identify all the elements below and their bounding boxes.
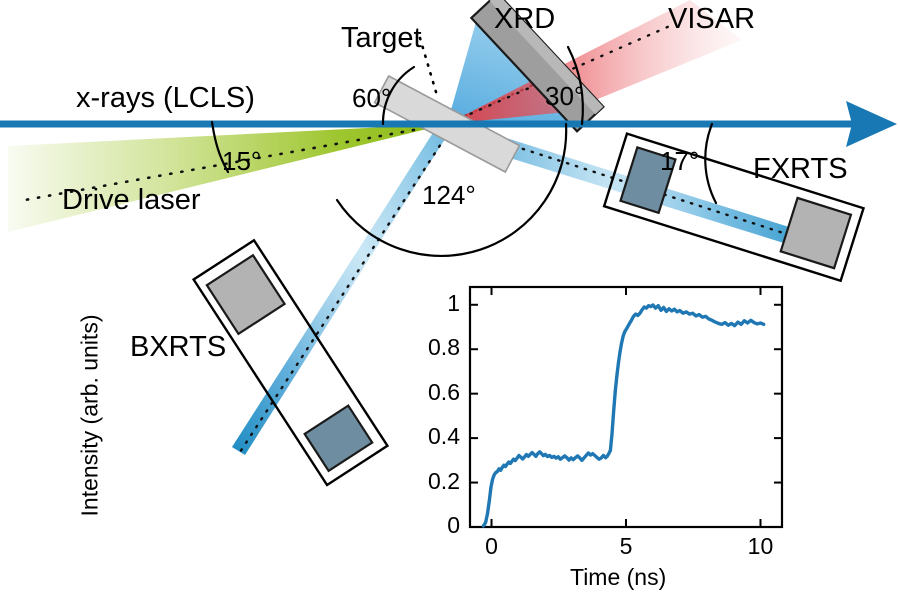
plot-y-tick-0.6: 0.6 — [406, 381, 460, 404]
fxrts-label: FXRTS — [753, 155, 848, 184]
plot-x-tick-5: 5 — [602, 535, 650, 558]
plot-y-tick-0: 0 — [406, 514, 460, 537]
plot-y-tick-1: 1 — [406, 292, 460, 315]
angle-label-60: 60° — [352, 85, 391, 111]
drive-laser-label: Drive laser — [62, 186, 201, 215]
xray-arrow-head — [846, 101, 897, 147]
visar-label: VISAR — [668, 5, 755, 34]
target-label: Target — [341, 24, 422, 53]
xray-beam-label: x-rays (LCLS) — [76, 84, 255, 113]
target-leader — [420, 38, 436, 92]
figure-canvas: x-rays (LCLS) Drive laser Target XRD VIS… — [0, 0, 900, 599]
xrd-label: XRD — [494, 5, 555, 34]
plot-x-tick-10: 10 — [736, 535, 784, 558]
angle-arc-17 — [705, 124, 716, 203]
plot-y-tick-0.8: 0.8 — [406, 336, 460, 359]
plot-y-tick-0.4: 0.4 — [406, 425, 460, 448]
angle-label-124: 124° — [422, 182, 476, 208]
angle-label-30: 30° — [545, 83, 584, 109]
inset-plot — [470, 287, 782, 527]
plot-x-axis-title: Time (ns) — [570, 566, 666, 589]
plot-y-tick-0.2: 0.2 — [406, 470, 460, 493]
angle-label-15: 15° — [222, 148, 261, 174]
plot-x-tick-0: 0 — [468, 535, 516, 558]
angle-label-17: 17° — [660, 148, 699, 174]
plot-y-axis-title: Intensity (arb. units) — [79, 266, 102, 566]
bxrts-detector-plate — [207, 255, 285, 334]
fxrts-detector-plate — [781, 198, 851, 268]
bxrts-label: BXRTS — [130, 333, 226, 362]
